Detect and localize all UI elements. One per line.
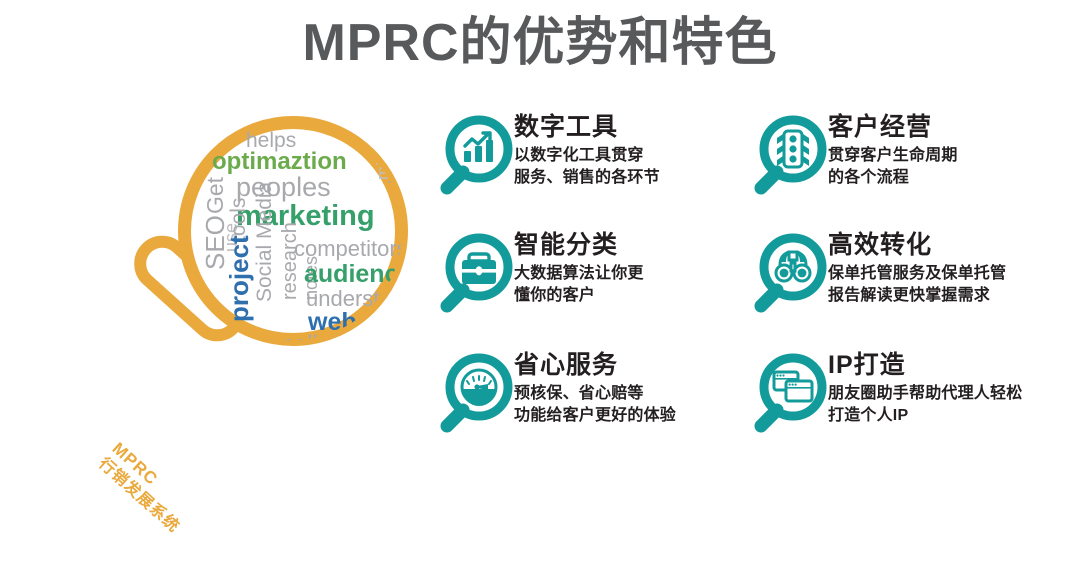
magnifier-briefcase-icon: [436, 228, 514, 318]
word-cloud-term: research: [280, 222, 300, 300]
feature-item-1[interactable]: 数字工具以数字化工具贯穿 服务、销售的各环节: [436, 110, 736, 222]
feature-text: 高效转化保单托管服务及保单托管 报告解读更快掌握需求: [828, 228, 1050, 307]
feature-description: 以数字化工具贯穿 服务、销售的各环节: [514, 145, 736, 189]
magnifier-windows-icon: [750, 348, 828, 438]
magnifier-binoculars-icon: [750, 228, 828, 318]
feature-title: 数字工具: [514, 112, 736, 142]
feature-title: 智能分类: [514, 230, 736, 260]
word-cloud-term: audience: [304, 262, 402, 287]
feature-description: 贯穿客户生命周期 的各个流程: [828, 145, 1050, 189]
word-cloud-term: competitors: [294, 238, 402, 260]
feature-text: 客户经营贯穿客户生命周期 的各个流程: [828, 110, 1050, 189]
word-cloud-term: understand: [306, 288, 402, 310]
word-cloud-term: peoples: [236, 174, 331, 201]
word-cloud-term: collected: [282, 333, 377, 340]
feature-text: IP打造朋友圈助手帮助代理人轻松 打造个人IP: [828, 348, 1050, 427]
feature-text: 数字工具以数字化工具贯穿 服务、销售的各环节: [514, 110, 736, 189]
feature-description: 保单托管服务及保单托管 报告解读更快掌握需求: [828, 263, 1050, 307]
magnifier-word-cloud-graphic: helpsoptimaztionmindhitpeoplesmarketingS…: [56, 108, 416, 458]
page-title: MPRC的优势和特色: [0, 8, 1080, 78]
word-cloud-term: Get: [204, 177, 227, 214]
poster-root: MPRC的优势和特色 helpsoptimaztionmindhitpeople…: [0, 0, 1080, 477]
feature-item-3[interactable]: 智能分类大数据算法让你更 懂你的客户: [436, 228, 736, 340]
feature-description: 大数据算法让你更 懂你的客户: [514, 263, 736, 307]
word-cloud-term: hit: [387, 164, 402, 184]
feature-item-2[interactable]: 客户经营贯穿客户生命周期 的各个流程: [750, 110, 1050, 222]
feature-description: 预核保、省心赔等 功能给客户更好的体验: [514, 383, 736, 427]
magnifier-speedometer-icon: [436, 348, 514, 438]
feature-title: 客户经营: [828, 112, 1050, 142]
feature-item-6[interactable]: IP打造朋友圈助手帮助代理人轻松 打造个人IP: [750, 348, 1050, 460]
magnifier-handle-label: MPRC 行销发展系统: [94, 438, 234, 570]
feature-text: 智能分类大数据算法让你更 懂你的客户: [514, 228, 736, 307]
word-cloud-term: project: [226, 235, 252, 322]
feature-title: 省心服务: [514, 350, 736, 380]
feature-item-5[interactable]: 省心服务预核保、省心赔等 功能给客户更好的体验: [436, 348, 736, 460]
feature-title: 高效转化: [828, 230, 1050, 260]
word-cloud-term: Social Media: [254, 182, 275, 302]
word-cloud: helpsoptimaztionmindhitpeoplesmarketingS…: [184, 122, 402, 340]
feature-text: 省心服务预核保、省心赔等 功能给客户更好的体验: [514, 348, 736, 427]
feature-description: 朋友圈助手帮助代理人轻松 打造个人IP: [828, 383, 1050, 427]
feature-item-4[interactable]: 高效转化保单托管服务及保单托管 报告解读更快掌握需求: [750, 228, 1050, 340]
word-cloud-term: optimaztion: [212, 150, 347, 174]
magnifier-traffic-light-icon: [750, 110, 828, 200]
magnifier-bar-chart-icon: [436, 110, 514, 200]
feature-title: IP打造: [828, 350, 1050, 380]
feature-grid: 数字工具以数字化工具贯穿 服务、销售的各环节客户经营贯穿客户生命周期 的各个流程…: [436, 110, 1060, 460]
